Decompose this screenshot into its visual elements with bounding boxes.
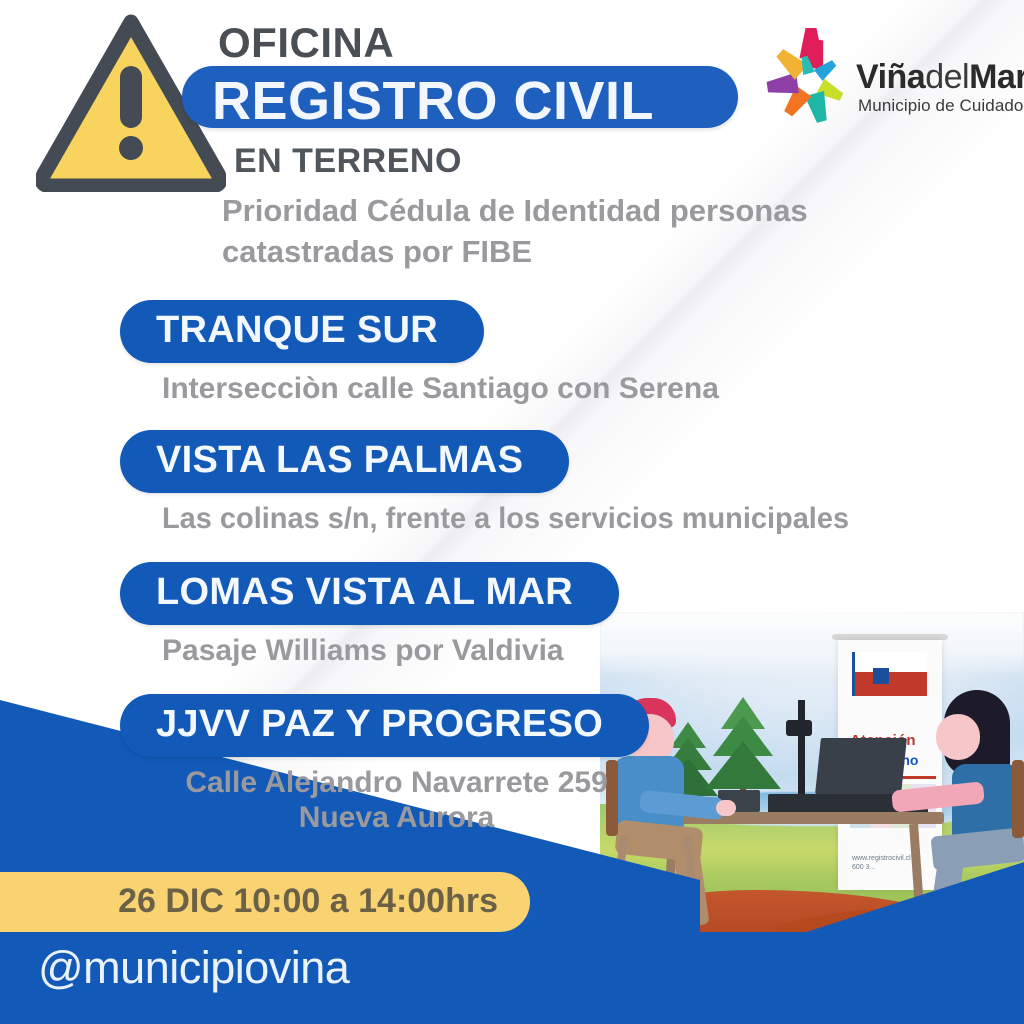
location-name: VISTA LAS PALMAS [156,439,523,481]
location-name: JJVV PAZ Y PROGRESO [156,703,603,745]
social-handle[interactable]: @municipiovina [38,942,349,994]
hand [716,800,736,816]
logo-name-part3: Mar [969,58,1024,96]
page-kicker: OFICINA [218,22,394,64]
location-name-pill[interactable]: LOMAS VISTA AL MAR [120,562,619,625]
location-name: TRANQUE SUR [156,309,438,351]
location-item[interactable]: VISTA LAS PALMAS Las colinas s/n, frente… [120,430,874,536]
flag-star-icon [873,668,889,684]
logo-tagline: Municipio de Cuidados [858,96,1024,116]
location-address: Calle Alejandro Navarrete 259 Nueva Auro… [144,765,649,836]
camera-head [786,720,812,736]
poster-canvas: Atención en terreno www.registrocivil.cl… [0,0,1024,1024]
location-name-pill[interactable]: VISTA LAS PALMAS [120,430,569,493]
location-name-pill[interactable]: TRANQUE SUR [120,300,484,363]
logo-name-part1: Viña [856,58,925,96]
registro-civil-logo [852,652,927,696]
page-tagline: EN TERRENO [234,142,462,181]
illustration-clouds [600,612,1024,678]
location-address: Las colinas s/n, frente a los servicios … [162,501,849,536]
location-name-pill[interactable]: JJVV PAZ Y PROGRESO [120,694,649,757]
schedule-banner: 26 DIC 10:00 a 14:00hrs [0,872,530,932]
location-address: Intersecciòn calle Santiago con Serena [162,371,719,406]
location-name: LOMAS VISTA AL MAR [156,571,573,613]
pinwheel-petals-icon [758,28,864,134]
vina-del-mar-logo: ViñadelMar Municipio de Cuidados [758,26,1020,138]
camera-pole [798,700,805,796]
location-item[interactable]: LOMAS VISTA AL MAR Pasaje Williams por V… [120,562,619,668]
page-subtitle: Prioridad Cédula de Identidad personas c… [222,191,922,273]
rollup-banner-url: www.registrocivil.cl 600 3... [852,854,911,873]
location-item[interactable]: TRANQUE SUR Intersecciòn calle Santiago … [120,300,719,406]
page-title-bar: REGISTRO CIVIL [182,66,738,128]
logo-wordmark: ViñadelMar [856,58,1024,97]
location-address: Pasaje Williams por Valdivia [162,633,619,668]
location-item[interactable]: JJVV PAZ Y PROGRESO Calle Alejandro Nava… [120,694,649,836]
logo-name-part2: del [925,58,969,96]
schedule-text: 26 DIC 10:00 a 14:00hrs [118,882,498,921]
head [936,714,980,760]
chair-right [1012,760,1024,838]
laptop-screen [815,738,907,794]
page-title: REGISTRO CIVIL [212,70,654,132]
